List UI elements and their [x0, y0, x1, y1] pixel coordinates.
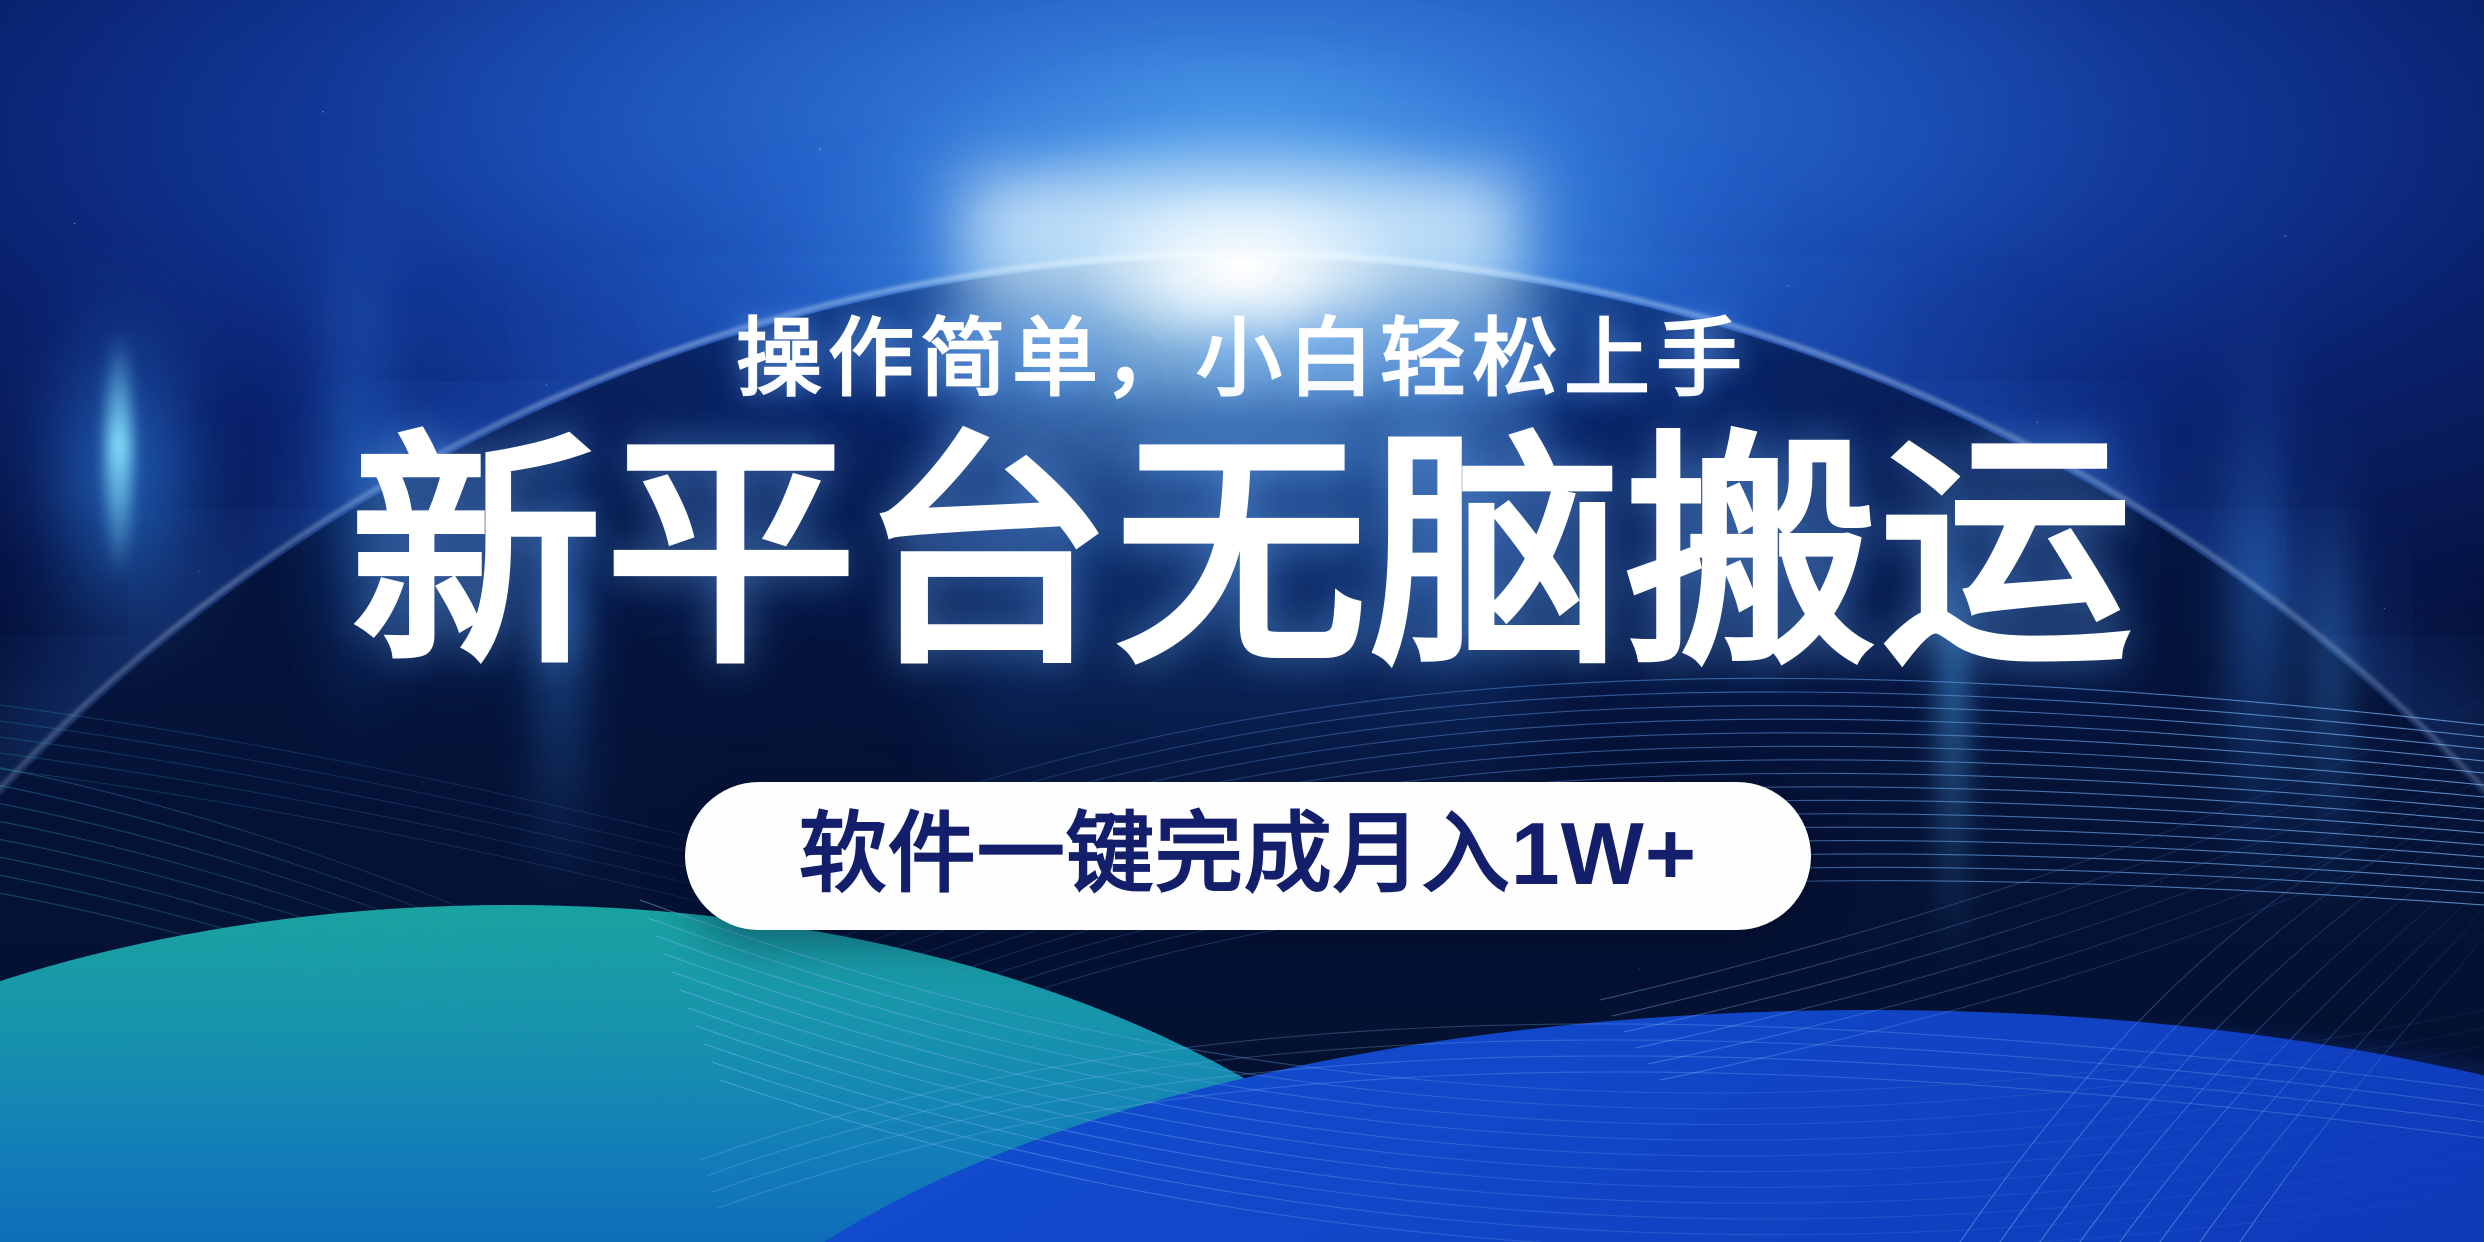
highlight-pill: 软件一键完成月入1W+ [685, 782, 1811, 930]
poster-headline: 新平台无脑搬运 [0, 430, 2484, 678]
highlight-pill-label: 软件一键完成月入1W+ [799, 810, 1697, 898]
promo-poster: 操作简单，小白轻松上手 新平台无脑搬运 软件一键完成月入1W+ [0, 0, 2484, 1242]
poster-subtitle: 操作简单，小白轻松上手 [0, 288, 2484, 413]
